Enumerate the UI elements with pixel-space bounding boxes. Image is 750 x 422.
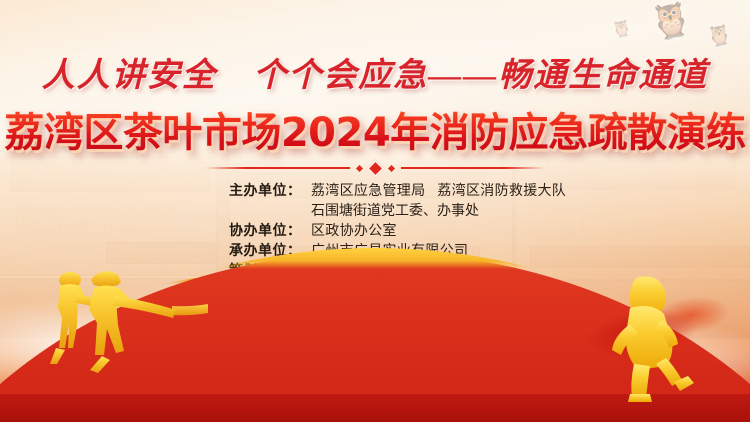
dove-icon: 🦉 — [705, 24, 734, 49]
credit-row: 石围塘街道党工委、办事处 — [0, 200, 750, 220]
diamond-dot-icon — [355, 164, 362, 171]
ornamental-divider — [205, 160, 545, 176]
credit-value-continued: 石围塘街道党工委、办事处 — [229, 202, 479, 218]
credit-row: 协办单位：区政协办公室 — [0, 220, 750, 240]
page-title: 荔湾区茶叶市场2024年消防应急疏散演练 — [0, 100, 750, 158]
credit-value: 区政协办公室 — [311, 222, 397, 238]
divider-rule-right — [401, 167, 546, 169]
credit-row-inner: 石围塘街道党工委、办事处 — [229, 200, 521, 220]
firefighter-hose-silhouette-icon — [28, 260, 208, 378]
divider-rule-left — [205, 167, 350, 169]
dove-icon: 🦉 — [647, 0, 695, 42]
diamond-dot-icon — [387, 164, 394, 171]
credit-row-inner: 协办单位：区政协办公室 — [229, 220, 521, 240]
poster-canvas: 🦉 🦉 🦉 人人讲安全 个个会应急——畅通生命通道 荔湾区茶叶市场2024年消防… — [0, 0, 750, 422]
credit-row: 主办单位：荔湾区应急管理局荔湾区消防救援大队 — [0, 180, 750, 200]
credit-value-secondary: 荔湾区消防救援大队 — [437, 182, 566, 198]
slogan-part-2: 个个会应急——畅通生命通道 — [253, 58, 708, 94]
credit-label: 主办单位： — [229, 180, 311, 200]
slogan-part-1: 人人讲安全 — [42, 58, 217, 94]
credit-label: 协办单位： — [229, 220, 311, 240]
slogan-line: 人人讲安全 个个会应急——畅通生命通道 — [0, 48, 750, 96]
credit-value: 荔湾区应急管理局 — [311, 182, 425, 198]
dove-icon: 🦉 — [611, 20, 634, 40]
credit-row-inner: 主办单位：荔湾区应急管理局荔湾区消防救援大队 — [229, 180, 521, 200]
running-person-silhouette-icon — [590, 272, 698, 402]
diamond-ornament-icon — [366, 159, 384, 177]
